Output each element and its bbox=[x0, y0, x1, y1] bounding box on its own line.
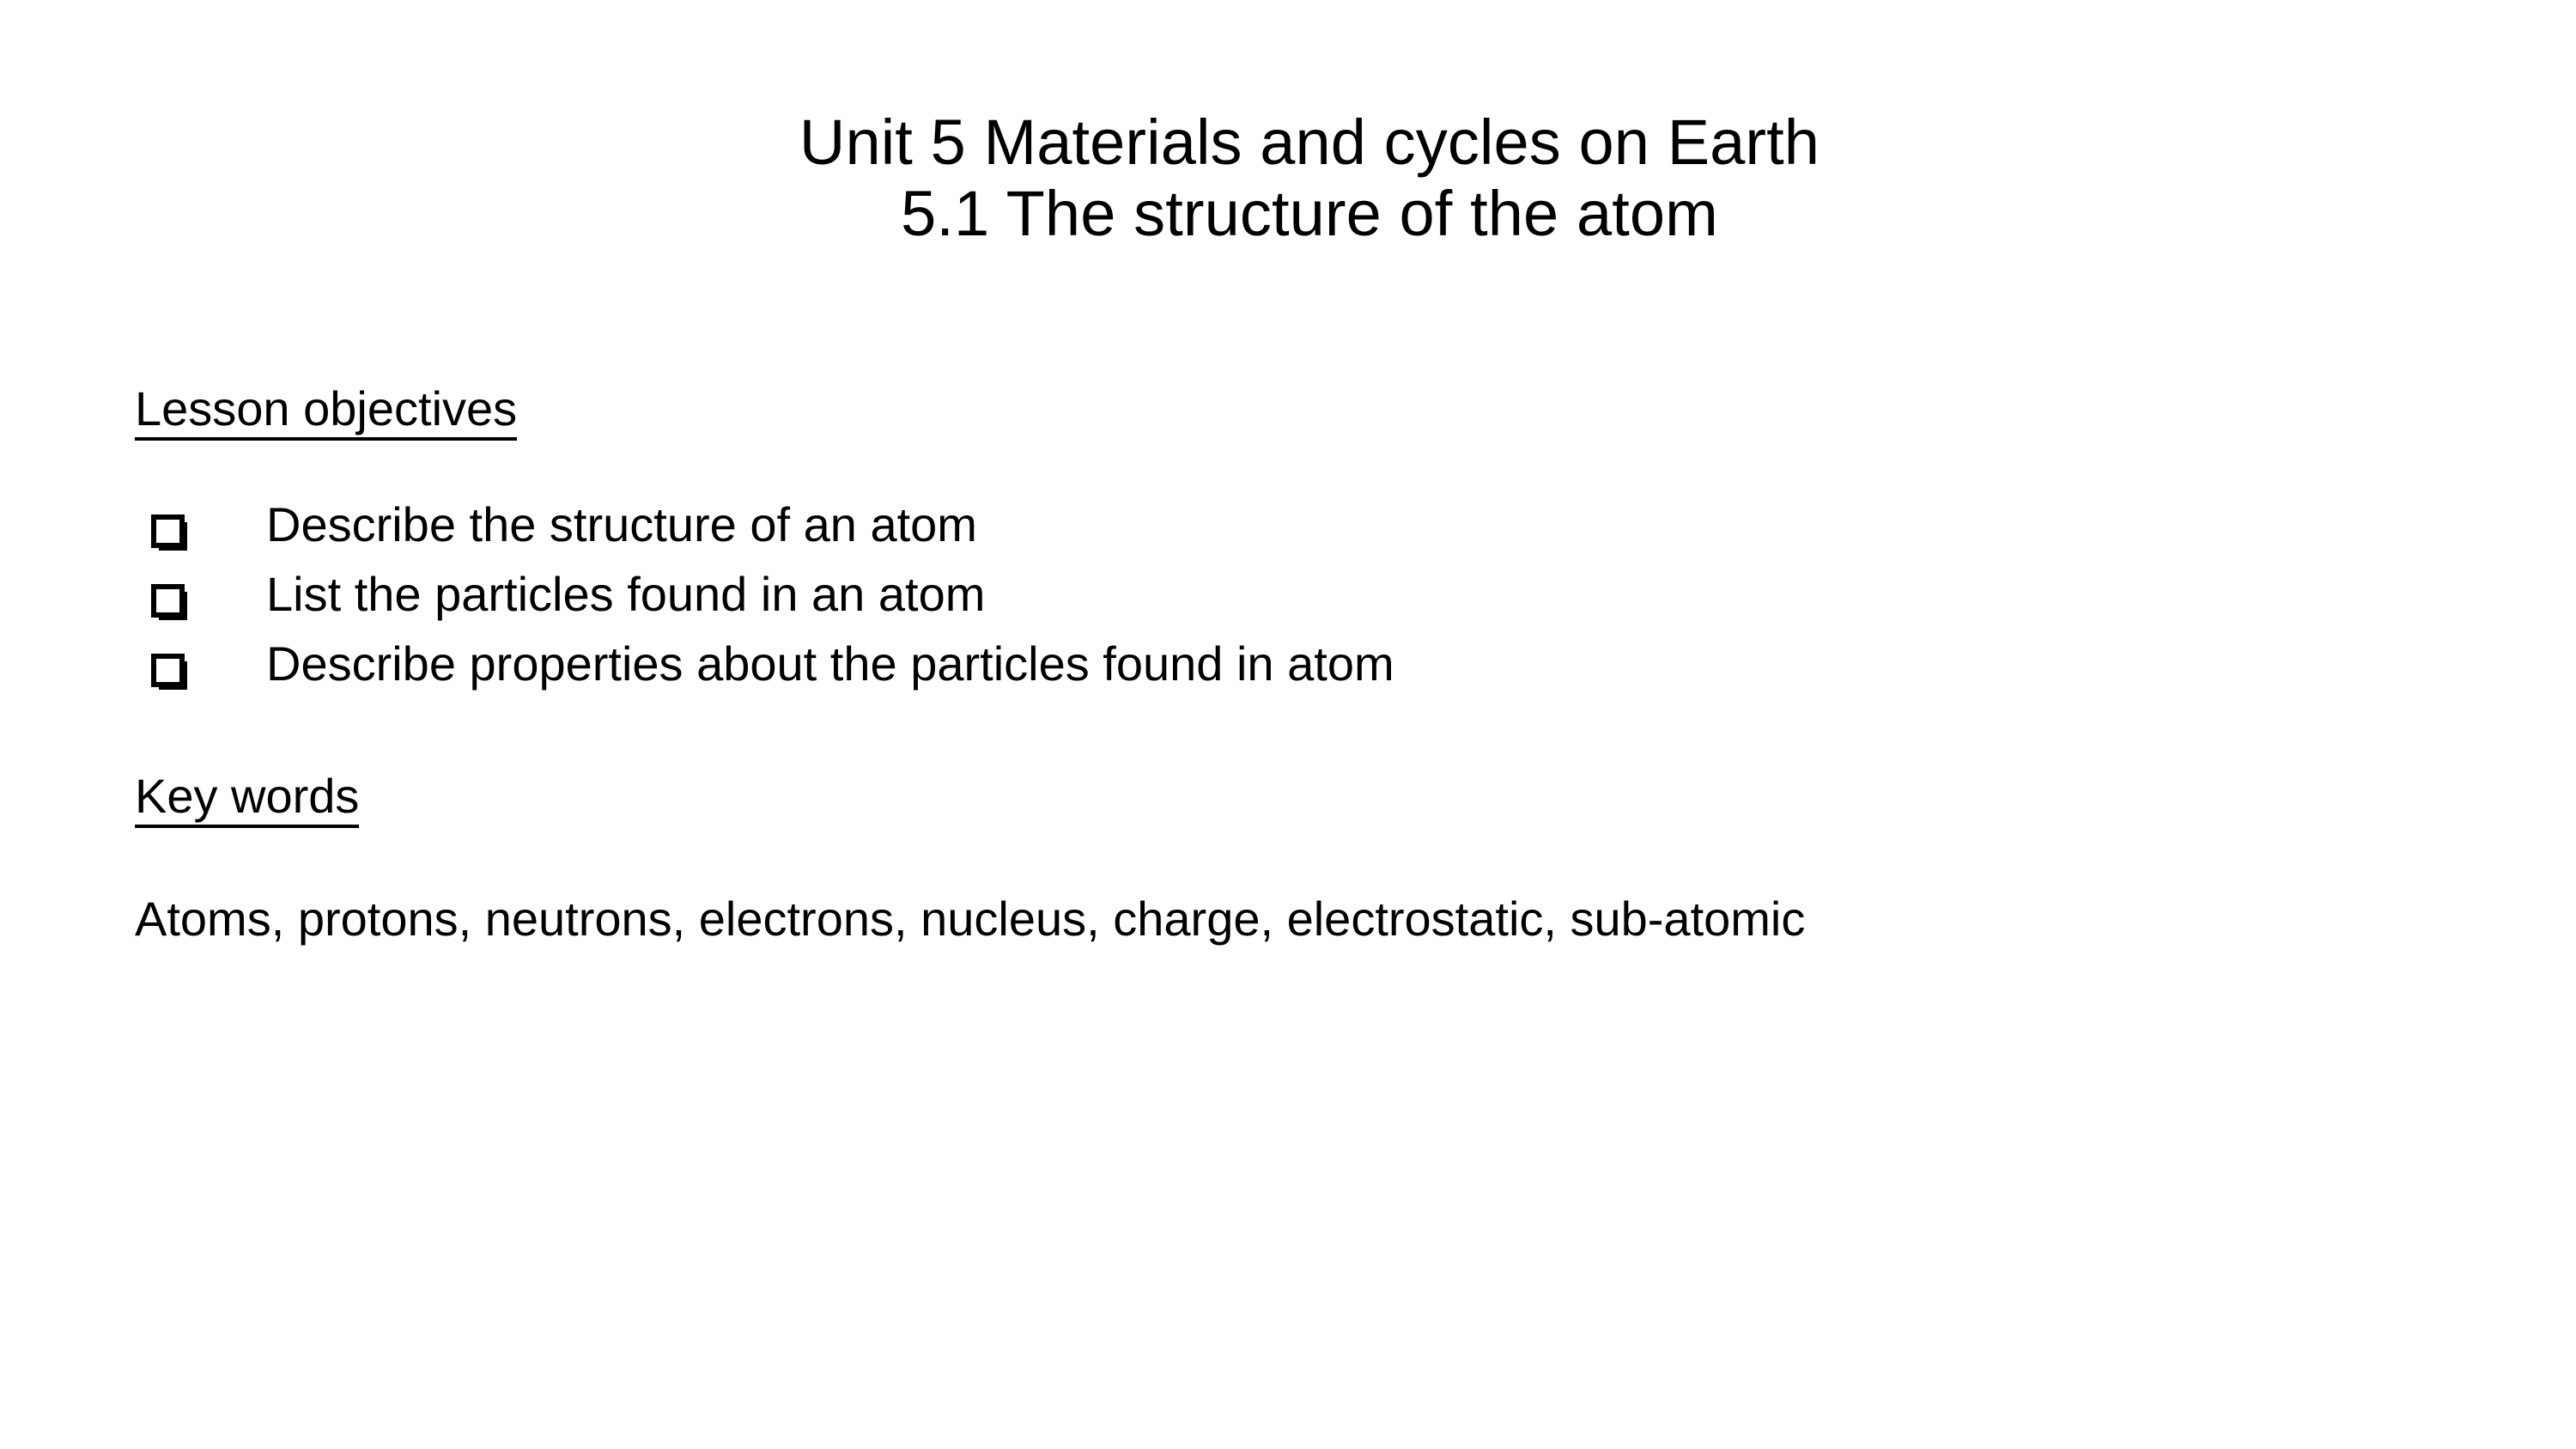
lesson-objectives-heading-text: Lesson objectives bbox=[135, 385, 517, 441]
key-words-heading-text: Key words bbox=[135, 772, 359, 828]
shadow-box-bullet-icon bbox=[151, 654, 187, 690]
objective-label: Describe properties about the particles … bbox=[266, 640, 1394, 688]
slide-body: Lesson objectives Describe the structure… bbox=[135, 385, 2453, 943]
slide-title-line-2: 5.1 The structure of the atom bbox=[258, 179, 2361, 250]
lesson-objectives-list: Describe the structure of an atom List t… bbox=[135, 501, 2453, 709]
objective-label: Describe the structure of an atom bbox=[266, 501, 977, 549]
objective-label: List the particles found in an atom bbox=[266, 570, 985, 618]
list-item: Describe the structure of an atom bbox=[135, 501, 2453, 570]
key-words-text: Atoms, protons, neutrons, electrons, nuc… bbox=[135, 895, 2453, 943]
shadow-box-bullet-icon bbox=[151, 514, 187, 551]
list-item: List the particles found in an atom bbox=[135, 570, 2453, 640]
shadow-box-bullet-icon bbox=[151, 584, 187, 620]
key-words-heading: Key words bbox=[135, 772, 2453, 828]
slide-canvas: Unit 5 Materials and cycles on Earth 5.1… bbox=[0, 0, 2576, 1449]
lesson-objectives-heading: Lesson objectives bbox=[135, 385, 2453, 441]
slide-title-line-1: Unit 5 Materials and cycles on Earth bbox=[258, 107, 2361, 179]
slide-title: Unit 5 Materials and cycles on Earth 5.1… bbox=[258, 107, 2361, 250]
list-item: Describe properties about the particles … bbox=[135, 640, 2453, 709]
